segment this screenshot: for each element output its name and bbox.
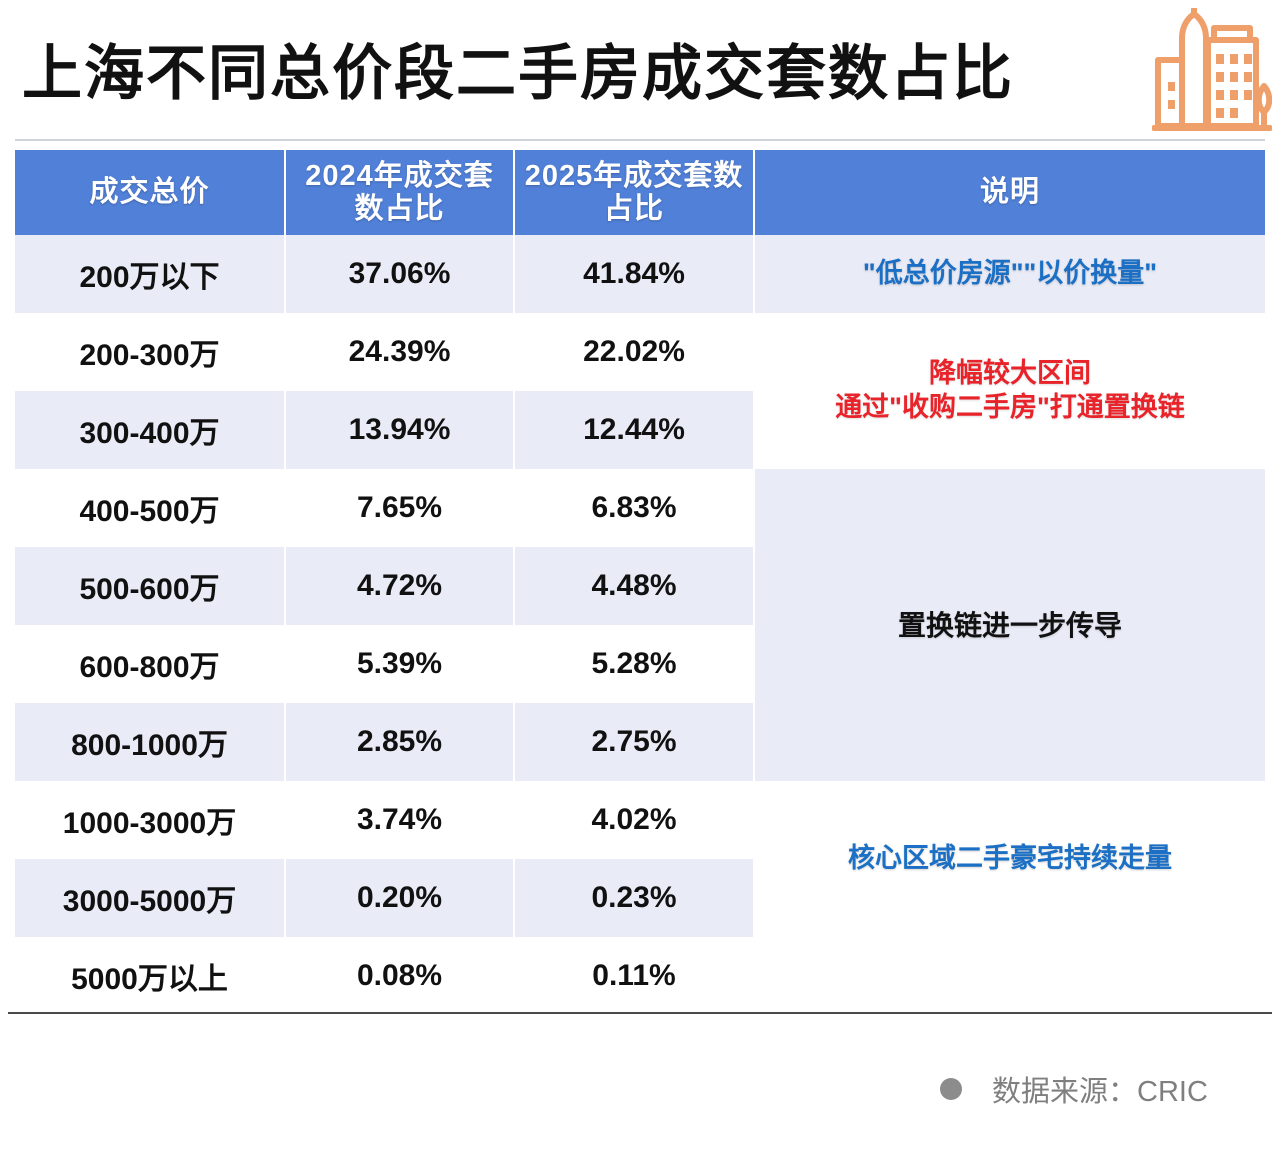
source-label: 数据来源：CRIC [992,1068,1208,1110]
page-header: 上海不同总价段二手房成交套数占比 [0,0,1280,142]
note-chain-transmission: 置换链进一步传导 [755,469,1265,781]
column-header-2025: 2025年成交套数占比 [515,150,755,235]
note-big-decline-line2: 通过"收购二手房"打通置换链 [835,391,1185,425]
note-empty [755,937,1265,1015]
column-header-price: 成交总价 [15,150,286,235]
cell-2024-share: 4.72% [286,547,515,625]
cell-2024-share: 0.08% [286,937,515,1015]
cell-2025-share: 12.44% [515,391,755,469]
cell-2024-share: 7.65% [286,469,515,547]
cell-price-range: 300-400万 [15,391,286,469]
city-buildings-icon [1152,8,1272,134]
cell-2025-share: 6.83% [515,469,755,547]
cell-2024-share: 0.20% [286,859,515,937]
cell-2024-share: 5.39% [286,625,515,703]
note-core-luxury: 核心区域二手豪宅持续走量 [755,781,1265,937]
note-column: "低总价房源""以价换量" 降幅较大区间 通过"收购二手房"打通置换链 置换链进… [755,235,1265,1015]
cell-2025-share: 0.23% [515,859,755,937]
cell-2024-share: 2.85% [286,703,515,781]
page-title: 上海不同总价段二手房成交套数占比 [22,22,1142,114]
cell-price-range: 600-800万 [15,625,286,703]
cell-2025-share: 2.75% [515,703,755,781]
cell-2025-share: 0.11% [515,937,755,1015]
cell-2025-share: 4.02% [515,781,755,859]
cell-2025-share: 4.48% [515,547,755,625]
cell-2025-share: 41.84% [515,235,755,313]
column-header-2024: 2024年成交套数占比 [286,150,515,235]
bullet-dot-icon [940,1078,962,1100]
cell-price-range: 400-500万 [15,469,286,547]
cell-price-range: 5000万以上 [15,937,286,1015]
cell-price-range: 800-1000万 [15,703,286,781]
cell-price-range: 200-300万 [15,313,286,391]
cell-2024-share: 37.06% [286,235,515,313]
note-big-decline-line1: 降幅较大区间 [835,357,1185,391]
header-divider [15,139,1265,141]
source-row: 数据来源：CRIC [940,1068,1208,1110]
column-header-note: 说明 [755,150,1265,235]
note-big-decline: 降幅较大区间 通过"收购二手房"打通置换链 [755,313,1265,469]
cell-price-range: 500-600万 [15,547,286,625]
footer-divider [8,1012,1272,1014]
cell-price-range: 1000-3000万 [15,781,286,859]
cell-2024-share: 13.94% [286,391,515,469]
cell-2025-share: 22.02% [515,313,755,391]
note-low-price: "低总价房源""以价换量" [755,235,1265,313]
table-header-row: 成交总价 2024年成交套数占比 2025年成交套数占比 说明 [15,150,1265,235]
cell-price-range: 200万以下 [15,235,286,313]
cell-2025-share: 5.28% [515,625,755,703]
cell-2024-share: 3.74% [286,781,515,859]
cell-2024-share: 24.39% [286,313,515,391]
cell-price-range: 3000-5000万 [15,859,286,937]
